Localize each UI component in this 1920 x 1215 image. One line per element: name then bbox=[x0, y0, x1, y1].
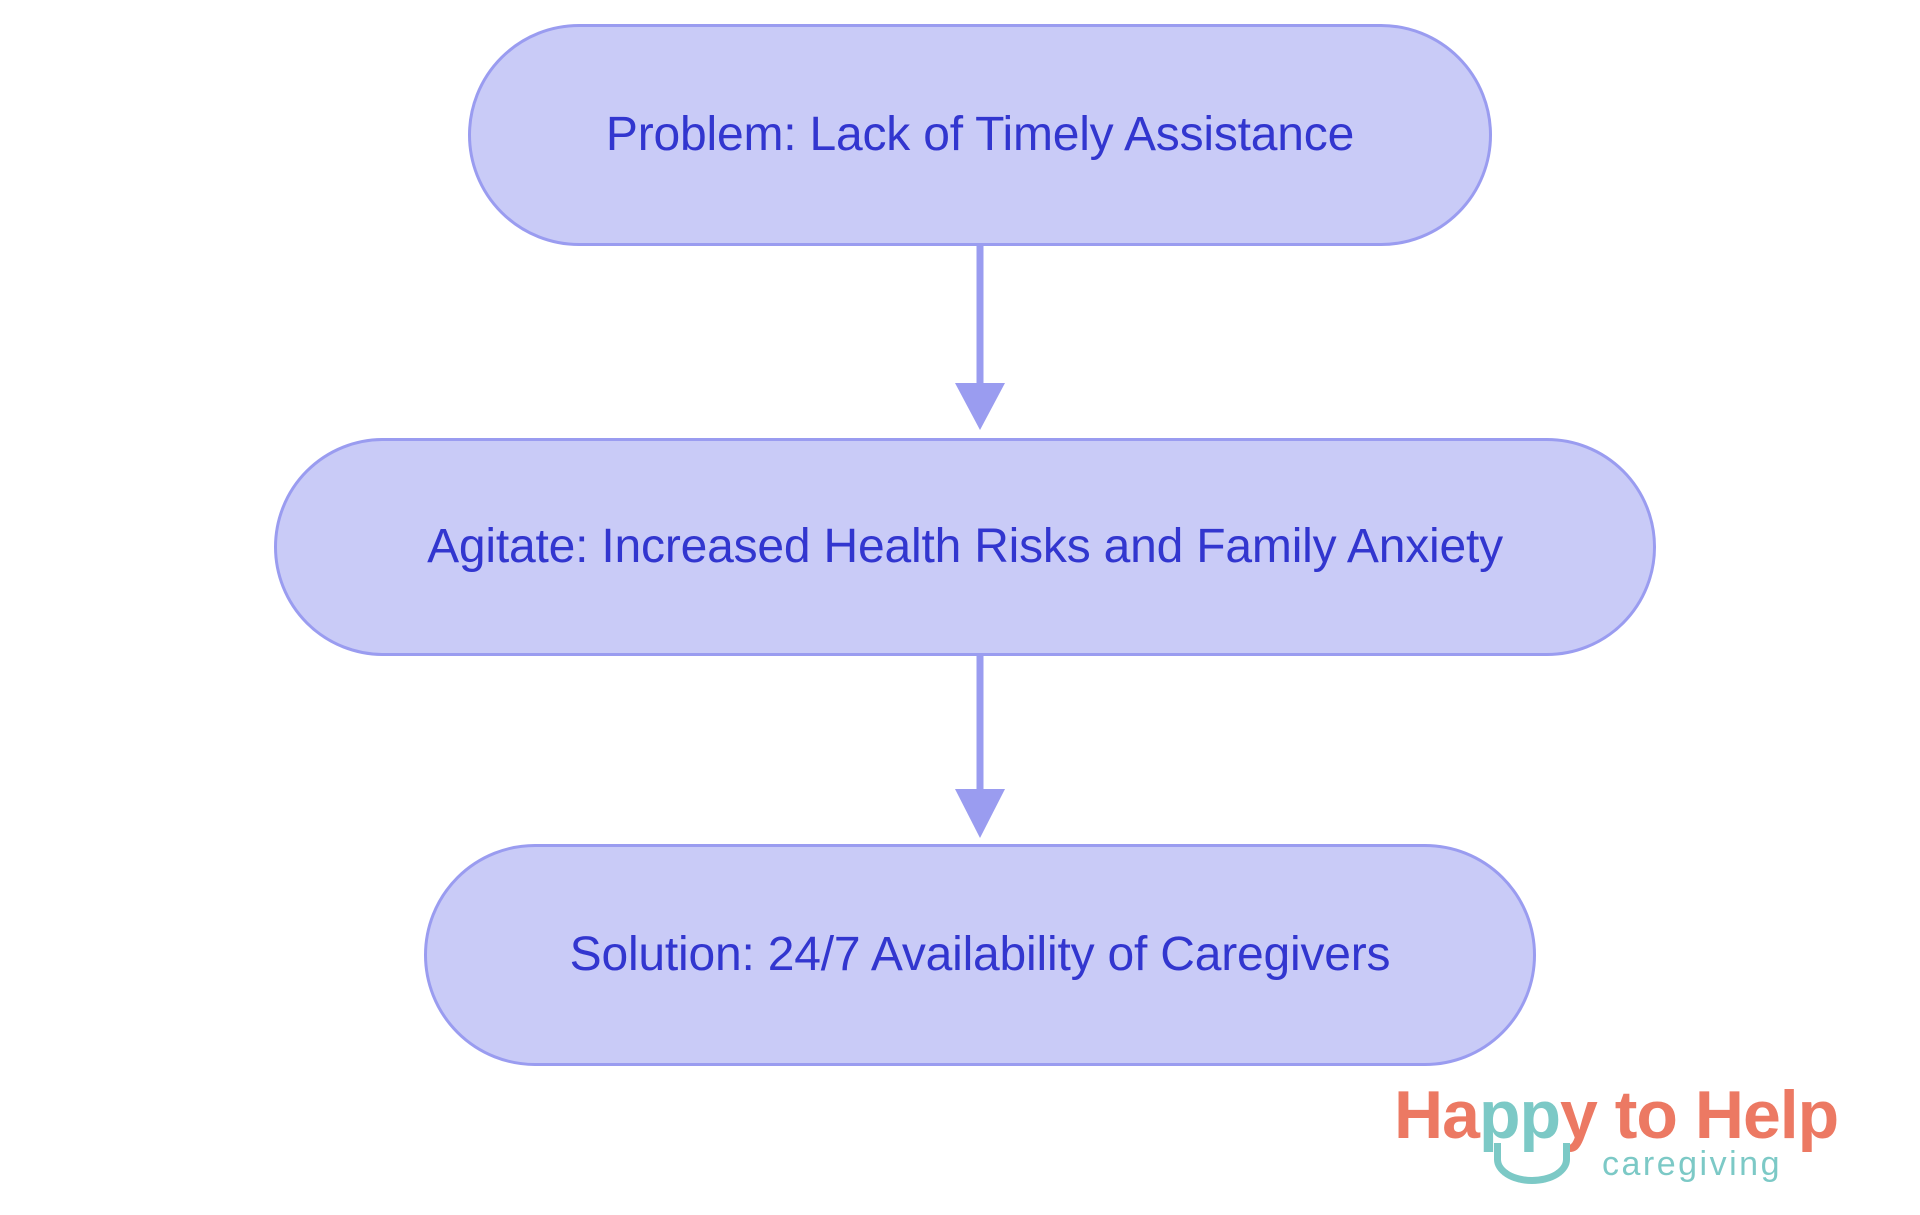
logo-space-2 bbox=[1677, 1077, 1695, 1153]
logo-letter-y: y bbox=[1560, 1077, 1597, 1153]
logo-word-help: Help bbox=[1695, 1077, 1838, 1153]
node-agitate-label: Agitate: Increased Health Risks and Fami… bbox=[399, 519, 1531, 574]
node-solution-label: Solution: 24/7 Availability of Caregiver… bbox=[542, 927, 1419, 982]
edge-agitate-to-solution bbox=[955, 656, 1005, 838]
logo-letter-h: H bbox=[1394, 1077, 1442, 1153]
node-agitate[interactable]: Agitate: Increased Health Risks and Fami… bbox=[274, 438, 1656, 656]
edge-problem-to-agitate bbox=[955, 246, 1005, 430]
logo-tagline: caregiving bbox=[1602, 1147, 1782, 1181]
node-problem-label: Problem: Lack of Timely Assistance bbox=[578, 107, 1382, 162]
logo-word-to: to bbox=[1615, 1077, 1677, 1153]
flowchart-canvas: Problem: Lack of Timely Assistance Agita… bbox=[0, 0, 1920, 1215]
node-problem[interactable]: Problem: Lack of Timely Assistance bbox=[468, 24, 1492, 246]
node-solution[interactable]: Solution: 24/7 Availability of Caregiver… bbox=[424, 844, 1536, 1066]
logo-wordmark: Happy to Help bbox=[1394, 1081, 1838, 1149]
logo-letters-pp: pp bbox=[1479, 1077, 1560, 1153]
smile-icon bbox=[1494, 1143, 1570, 1184]
brand-logo: Happy to Help caregiving bbox=[1394, 1081, 1886, 1197]
logo-letter-a: a bbox=[1442, 1077, 1479, 1153]
logo-space-1 bbox=[1597, 1077, 1615, 1153]
